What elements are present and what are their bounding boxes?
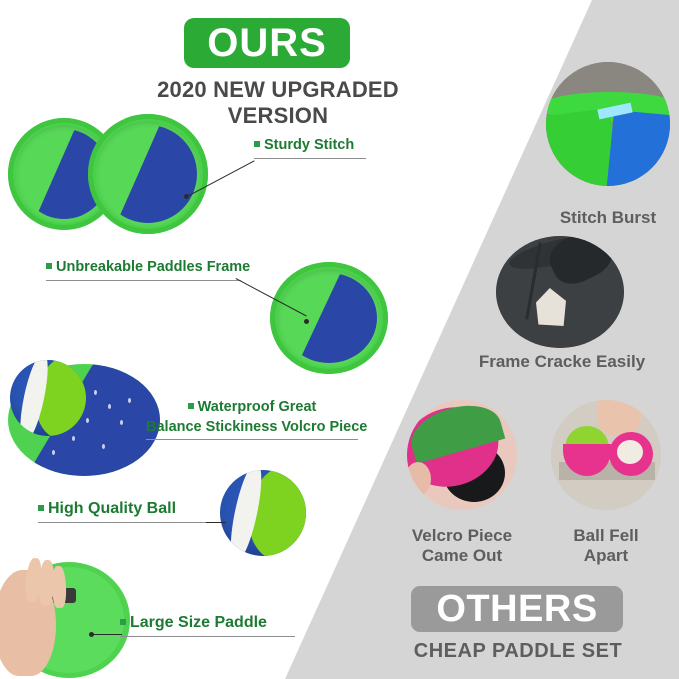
defect-photo-ball-fell-apart (551, 400, 661, 510)
defect-caption-velcro-came-out: Velcro Piece Came Out (388, 526, 536, 567)
hand-holding-paddle (0, 556, 135, 679)
defect-photo-velcro-came-out (407, 400, 517, 510)
callout-unbreakable-frame: Unbreakable Paddles Frame (46, 258, 241, 281)
callout-high-quality-ball: High Quality Ball (38, 498, 208, 523)
bullet-icon (46, 263, 52, 269)
defect-caption-ball-fell-apart: Ball Fell Apart (546, 526, 666, 567)
bullet-icon (120, 619, 126, 625)
ball-on-wet-paddle (2, 360, 162, 478)
leader-line-large-size-paddle (92, 634, 122, 635)
callout-label: Sturdy Stitch (264, 137, 354, 153)
defect-photo-stitch-burst (546, 62, 670, 186)
ball-on-paddle (10, 360, 86, 436)
others-subtitle: CHEAP PADDLE SET (396, 640, 640, 663)
callout-underline (254, 158, 366, 159)
callout-underline (46, 280, 241, 281)
callout-line-1: Waterproof Great (146, 398, 358, 418)
leader-dot-sturdy-stitch (184, 194, 189, 199)
leader-dot-large-size-paddle (89, 632, 94, 637)
bullet-icon (38, 505, 44, 511)
callout-underline (146, 439, 358, 440)
defect-photo-frame-crack (496, 236, 624, 348)
callout-line-2: Balance Stickiness Volcro Piece (146, 418, 358, 438)
callout-sturdy-stitch: Sturdy Stitch (254, 136, 366, 159)
bullet-icon (188, 403, 194, 409)
bullet-icon (254, 141, 260, 147)
ours-badge-label: OURS (207, 23, 327, 63)
callout-label: Large Size Paddle (130, 614, 267, 631)
callout-label: Unbreakable Paddles Frame (56, 259, 250, 275)
others-badge: OTHERS (411, 586, 623, 632)
tennis-ball (220, 470, 306, 556)
callout-waterproof-velcro: Waterproof Great Balance Stickiness Volc… (146, 398, 358, 440)
single-paddle (270, 262, 388, 374)
defect-caption-frame-crack: Frame Cracke Easily (458, 352, 666, 372)
others-badge-label: OTHERS (436, 590, 597, 628)
paddle-pair-right (88, 114, 208, 234)
callout-underline (120, 636, 295, 637)
callout-label: High Quality Ball (48, 500, 176, 517)
callout-large-size-paddle: Large Size Paddle (120, 612, 295, 637)
leader-dot-unbreakable-frame (304, 319, 309, 324)
callout-label: Waterproof Great (198, 399, 317, 415)
ours-badge: OURS (184, 18, 350, 68)
defect-caption-stitch-burst: Stitch Burst (536, 208, 679, 228)
leader-line-high-quality-ball (206, 522, 226, 523)
comparison-infographic: OURS 2020 NEW UPGRADED VERSION (0, 0, 679, 679)
callout-underline (38, 522, 208, 523)
